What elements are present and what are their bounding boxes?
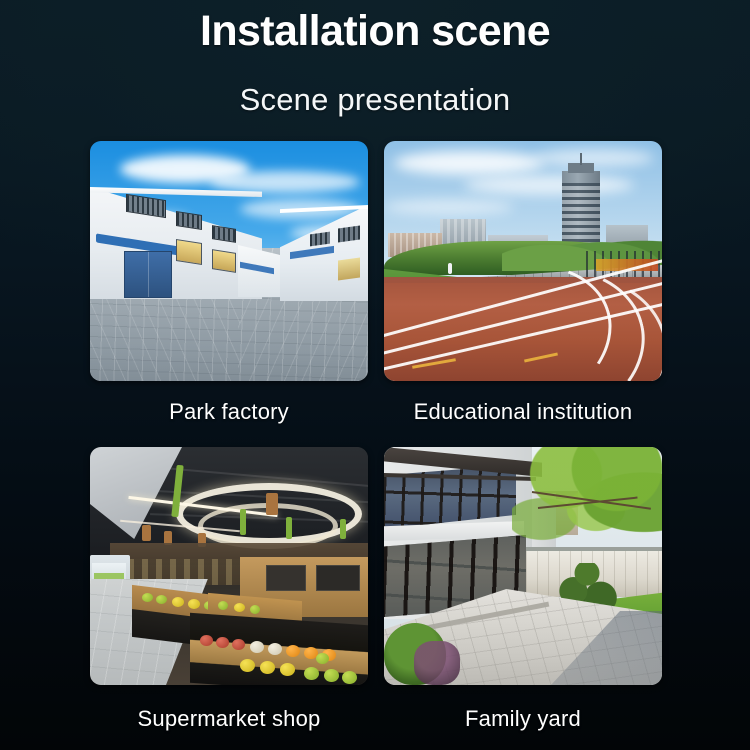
- supermarket-shop-image[interactable]: [90, 447, 368, 685]
- educational-institution-image[interactable]: [384, 141, 662, 381]
- produce-item: [342, 671, 357, 684]
- produce-item: [268, 643, 282, 655]
- window-lit: [338, 257, 360, 280]
- gallery-item-supermarket-shop[interactable]: Supermarket shop: [90, 447, 368, 732]
- produce-item: [304, 667, 319, 680]
- produce-item: [240, 659, 255, 672]
- scene-presentation-page: Installation scene Scene presentation: [0, 0, 750, 750]
- gallery-row: Supermarket shop: [90, 447, 662, 732]
- hanging-sign: [266, 493, 278, 515]
- gallery-item-caption: Family yard: [384, 706, 662, 732]
- produce-item: [216, 637, 229, 648]
- flowering-shrub: [414, 641, 460, 685]
- cloud: [464, 175, 634, 195]
- antenna: [580, 153, 582, 165]
- produce-item: [218, 601, 228, 610]
- produce-item: [200, 635, 213, 646]
- counter-display: [316, 565, 360, 591]
- cloud: [384, 199, 514, 215]
- produce-item: [324, 669, 339, 682]
- produce-item: [156, 595, 167, 604]
- produce-item: [250, 641, 264, 653]
- hanging-decor: [286, 517, 292, 539]
- scene-gallery-grid: Park factory: [90, 141, 662, 732]
- produce-item: [316, 653, 329, 664]
- counter-display: [266, 565, 306, 591]
- produce-item: [188, 599, 200, 609]
- produce-item: [250, 605, 260, 614]
- park-factory-image[interactable]: [90, 141, 368, 381]
- produce-item: [286, 645, 300, 657]
- cloud: [394, 151, 544, 175]
- page-title: Installation scene: [0, 6, 750, 56]
- family-yard-image[interactable]: [384, 447, 662, 685]
- produce-item: [172, 597, 184, 607]
- produce-item: [234, 603, 245, 612]
- gallery-item-caption: Park factory: [90, 399, 368, 425]
- row-spacer: [90, 425, 662, 447]
- gallery-item-park-factory[interactable]: Park factory: [90, 141, 368, 425]
- hanging-decor: [340, 519, 346, 539]
- person: [448, 263, 452, 274]
- produce-item: [260, 661, 275, 674]
- hanging-decor: [240, 509, 246, 535]
- cloud: [210, 171, 360, 193]
- produce-item: [280, 663, 295, 676]
- gallery-item-educational-institution[interactable]: Educational institution: [384, 141, 662, 425]
- produce-item: [232, 639, 245, 650]
- gallery-row: Park factory: [90, 141, 662, 425]
- gallery-item-caption: Supermarket shop: [90, 706, 368, 732]
- window-lit: [212, 249, 236, 273]
- hanging-sign: [142, 525, 151, 541]
- cloud: [534, 149, 654, 167]
- window-lit: [176, 239, 202, 265]
- gallery-item-caption: Educational institution: [384, 399, 662, 425]
- produce-item: [142, 593, 153, 602]
- page-subtitle: Scene presentation: [0, 81, 750, 119]
- loading-door: [124, 251, 172, 298]
- gallery-item-family-yard[interactable]: Family yard: [384, 447, 662, 732]
